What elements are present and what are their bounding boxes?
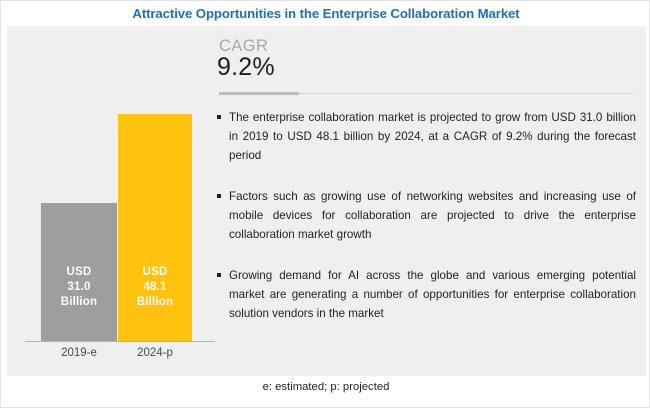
divider-segment-light bbox=[299, 93, 633, 94]
list-item: The enterprise collaboration market is p… bbox=[216, 108, 636, 165]
bar-2024-p-label-line1: USD bbox=[118, 265, 192, 280]
footnote: e: estimated; p: projected bbox=[1, 381, 650, 393]
bullet-square-icon bbox=[217, 273, 221, 277]
section-divider bbox=[219, 92, 633, 95]
bar-2019-e-label-line2: 31.0 bbox=[41, 280, 117, 295]
list-item: Growing demand for AI across the globe a… bbox=[216, 266, 636, 323]
bar-2024-p[interactable]: USD 48.1 Billion bbox=[118, 114, 192, 342]
x-axis-tick-labels: 2019-e 2024-p bbox=[21, 347, 221, 367]
chart-plot-area: USD 31.0 Billion USD 48.1 Billion bbox=[21, 26, 221, 342]
infographic-root: Attractive Opportunities in the Enterpri… bbox=[0, 0, 650, 408]
bar-2019-e-label: USD 31.0 Billion bbox=[41, 265, 117, 310]
bar-2024-p-label: USD 48.1 Billion bbox=[118, 265, 192, 310]
divider-segment-dark bbox=[219, 92, 299, 95]
list-item-text: The enterprise collaboration market is p… bbox=[229, 111, 636, 162]
list-item-text: Factors such as growing use of networkin… bbox=[229, 190, 636, 241]
list-item: Factors such as growing use of networkin… bbox=[216, 187, 636, 244]
bullet-square-icon bbox=[217, 115, 221, 119]
page-title: Attractive Opportunities in the Enterpri… bbox=[1, 6, 650, 21]
x-axis-line bbox=[25, 341, 215, 342]
x-tick-2024-p: 2024-p bbox=[118, 347, 192, 359]
bar-2024-p-label-line3: Billion bbox=[118, 295, 192, 310]
bar-chart: USD 31.0 Billion USD 48.1 Billion 2019-e bbox=[21, 26, 221, 376]
list-item-text: Growing demand for AI across the globe a… bbox=[229, 269, 636, 320]
bar-2019-e-label-line3: Billion bbox=[41, 295, 117, 310]
bar-2019-e-label-line1: USD bbox=[41, 265, 117, 280]
cagr-value: 9.2% bbox=[217, 53, 275, 82]
bar-2019-e[interactable]: USD 31.0 Billion bbox=[41, 203, 117, 342]
bullet-square-icon bbox=[217, 194, 221, 198]
bar-2024-p-label-line2: 48.1 bbox=[118, 280, 192, 295]
insights-column: CAGR 9.2% The enterprise collaboration m… bbox=[206, 26, 638, 376]
content-panel: USD 31.0 Billion USD 48.1 Billion 2019-e bbox=[7, 26, 646, 376]
insights-list: The enterprise collaboration market is p… bbox=[216, 108, 636, 323]
x-tick-2019-e: 2019-e bbox=[41, 347, 117, 359]
